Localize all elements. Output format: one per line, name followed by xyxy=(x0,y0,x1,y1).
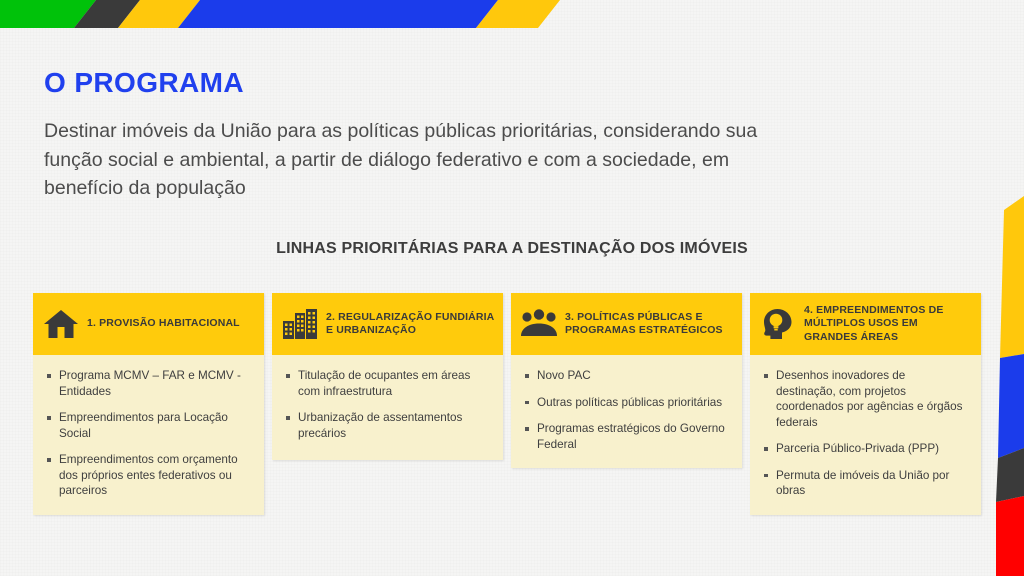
bullet-list: Titulação de ocupantes em áreas com infr… xyxy=(285,368,490,441)
card-regularizacao-fundiaria[interactable]: 2. REGULARIZAÇÃO FUNDIÁRIA E URBANIZAÇÃO… xyxy=(272,293,503,460)
card-provisao-habitacional[interactable]: 1. PROVISÃO HABITACIONAL Programa MCMV –… xyxy=(33,293,264,515)
page-title: O PROGRAMA xyxy=(44,67,244,99)
house-icon xyxy=(42,305,80,343)
list-item: Titulação de ocupantes em áreas com infr… xyxy=(285,368,490,399)
card-empreendimentos-multiplos-usos[interactable]: 4. EMPREENDIMENTOS DE MÚLTIPLOS USOS EM … xyxy=(750,293,981,515)
bullet-list: Novo PAC Outras políticas públicas prior… xyxy=(524,368,729,452)
buildings-icon xyxy=(281,305,319,343)
angled-color-bands-decoration xyxy=(0,0,1024,28)
card-body: Desenhos inovadores de destinação, com p… xyxy=(750,355,981,515)
list-item: Empreendimentos com orçamento dos própri… xyxy=(46,452,251,499)
card-title: 3. POLÍTICAS PÚBLICAS E PROGRAMAS ESTRAT… xyxy=(565,311,734,338)
list-item: Empreendimentos para Locação Social xyxy=(46,410,251,441)
list-item: Desenhos inovadores de destinação, com p… xyxy=(763,368,968,430)
card-body: Programa MCMV – FAR e MCMV - Entidades E… xyxy=(33,355,264,515)
list-item: Novo PAC xyxy=(524,368,729,384)
card-title: 2. REGULARIZAÇÃO FUNDIÁRIA E URBANIZAÇÃO xyxy=(326,311,495,338)
list-item: Permuta de imóveis da União por obras xyxy=(763,468,968,499)
list-item: Programas estratégicos do Governo Federa… xyxy=(524,421,729,452)
card-politicas-publicas[interactable]: 3. POLÍTICAS PÚBLICAS E PROGRAMAS ESTRAT… xyxy=(511,293,742,468)
list-item: Parceria Público-Privada (PPP) xyxy=(763,441,968,457)
list-item: Outras políticas públicas prioritárias xyxy=(524,395,729,411)
people-group-icon xyxy=(520,305,558,343)
priority-lines-card-row: 1. PROVISÃO HABITACIONAL Programa MCMV –… xyxy=(33,293,981,515)
card-body: Titulação de ocupantes em áreas com infr… xyxy=(272,355,503,460)
head-lightbulb-icon xyxy=(759,305,797,343)
card-header: 3. POLÍTICAS PÚBLICAS E PROGRAMAS ESTRAT… xyxy=(511,293,742,355)
card-title: 4. EMPREENDIMENTOS DE MÚLTIPLOS USOS EM … xyxy=(804,304,973,345)
bullet-list: Programa MCMV – FAR e MCMV - Entidades E… xyxy=(46,368,251,499)
program-description: Destinar imóveis da União para as políti… xyxy=(44,117,774,203)
list-item: Programa MCMV – FAR e MCMV - Entidades xyxy=(46,368,251,399)
section-heading: LINHAS PRIORITÁRIAS PARA A DESTINAÇÃO DO… xyxy=(0,240,1024,258)
card-header: 1. PROVISÃO HABITACIONAL xyxy=(33,293,264,355)
slide-canvas: O PROGRAMA Destinar imóveis da União par… xyxy=(0,0,1024,576)
vertical-color-stripe-decoration xyxy=(990,196,1024,576)
card-title: 1. PROVISÃO HABITACIONAL xyxy=(87,317,240,331)
card-body: Novo PAC Outras políticas públicas prior… xyxy=(511,355,742,468)
card-header: 4. EMPREENDIMENTOS DE MÚLTIPLOS USOS EM … xyxy=(750,293,981,355)
list-item: Urbanização de assentamentos precários xyxy=(285,410,490,441)
card-header: 2. REGULARIZAÇÃO FUNDIÁRIA E URBANIZAÇÃO xyxy=(272,293,503,355)
bullet-list: Desenhos inovadores de destinação, com p… xyxy=(763,368,968,499)
